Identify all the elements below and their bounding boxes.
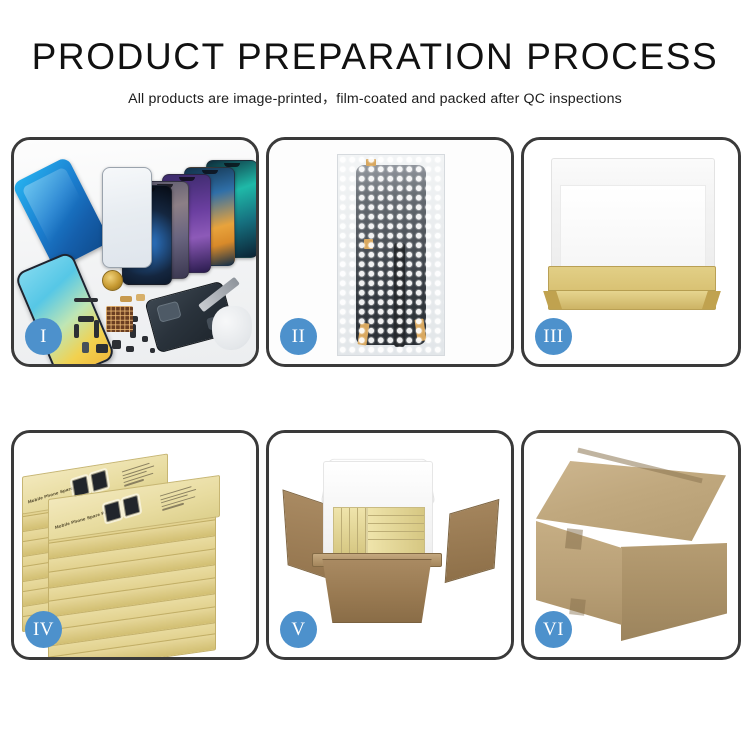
chip-grid-part-icon	[106, 306, 133, 332]
hand-shape	[212, 306, 252, 350]
step-badge-4: IV	[25, 611, 62, 648]
page-subtitle: All products are image-printed，film-coat…	[0, 88, 750, 108]
box-label-photos-front	[104, 495, 140, 522]
step-badge-6: VI	[535, 611, 572, 648]
carton-tab-lower	[569, 598, 586, 615]
packed-boxes-horizontal	[368, 508, 424, 554]
process-step-panel-5[interactable]: V	[266, 430, 514, 660]
page-title: PRODUCT PREPARATION PROCESS	[0, 38, 750, 77]
speaker-coil-part-icon	[102, 270, 123, 291]
page-header: PRODUCT PREPARATION PROCESS All products…	[0, 0, 750, 108]
process-step-panel-1[interactable]: I	[11, 137, 259, 367]
step-badge-3: III	[535, 318, 572, 355]
box-label-lines-front	[160, 484, 202, 513]
process-step-panel-6[interactable]: VI	[521, 430, 741, 660]
tray-front-face	[549, 290, 715, 309]
carton-body	[315, 559, 439, 623]
step-badge-2: II	[280, 318, 317, 355]
step-badge-5: V	[280, 611, 317, 648]
process-step-grid: I II	[11, 137, 740, 660]
process-step-panel-3[interactable]: III	[521, 137, 741, 367]
process-step-panel-2[interactable]: II	[266, 137, 514, 367]
kraft-box-tray	[548, 266, 716, 310]
process-step-panel-4[interactable]: Mobile Phone Spare Parts Mobile Phone Sp…	[11, 430, 259, 660]
step-badge-1: I	[25, 318, 62, 355]
screen-protector-film	[102, 167, 152, 268]
packed-yellow-boxes	[333, 507, 425, 555]
bubble-texture	[338, 155, 444, 355]
foam-lid-inner	[560, 185, 706, 271]
bubble-wrap-bag	[337, 154, 445, 356]
carton-tab-upper	[565, 528, 583, 550]
